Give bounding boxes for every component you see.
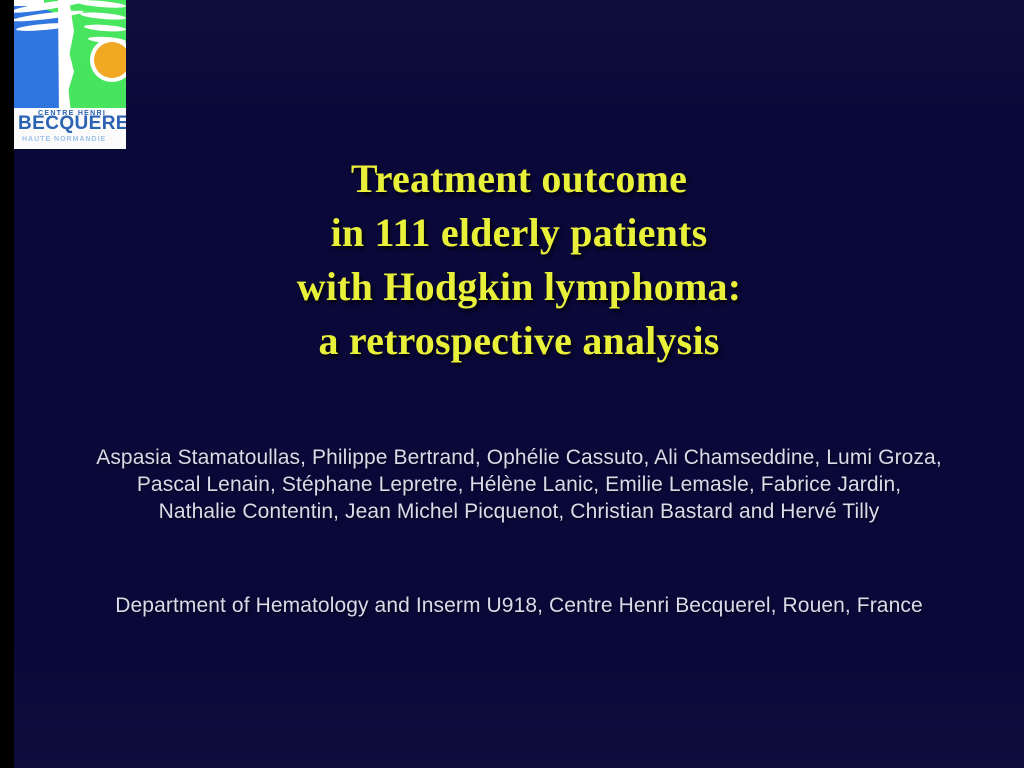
logo-sun-icon — [94, 42, 126, 78]
author-list: Aspasia Stamatoullas, Philippe Bertrand,… — [14, 444, 1024, 525]
presentation-slide: CENTRE HENRI BECQUEREL HAUTE NORMANDIE T… — [0, 0, 1024, 768]
page-title: Treatment outcome in 111 elderly patient… — [14, 152, 1024, 368]
logo-name-banner: CENTRE HENRI BECQUEREL HAUTE NORMANDIE — [14, 108, 126, 149]
logo-artwork — [14, 0, 126, 112]
logo-name-row: CENTRE HENRI BECQUEREL — [18, 111, 124, 135]
title-line-2: in 111 elderly patients — [14, 206, 1024, 260]
author-line-2: Pascal Lenain, Stéphane Lepretre, Hélène… — [14, 471, 1024, 498]
logo-main-label: BECQUEREL — [18, 114, 126, 133]
author-line-1: Aspasia Stamatoullas, Philippe Bertrand,… — [14, 444, 1024, 471]
affiliation: Department of Hematology and Inserm U918… — [14, 592, 1024, 619]
title-line-1: Treatment outcome — [14, 152, 1024, 206]
author-line-3: Nathalie Contentin, Jean Michel Picqueno… — [14, 498, 1024, 525]
title-line-4: a retrospective analysis — [14, 314, 1024, 368]
title-line-3: with Hodgkin lymphoma: — [14, 260, 1024, 314]
centre-henri-becquerel-logo: CENTRE HENRI BECQUEREL HAUTE NORMANDIE — [14, 0, 126, 149]
slide-canvas: CENTRE HENRI BECQUEREL HAUTE NORMANDIE T… — [14, 0, 1024, 768]
affiliation-line-1: Department of Hematology and Inserm U918… — [14, 592, 1024, 619]
logo-region-label: HAUTE NORMANDIE — [22, 136, 106, 144]
